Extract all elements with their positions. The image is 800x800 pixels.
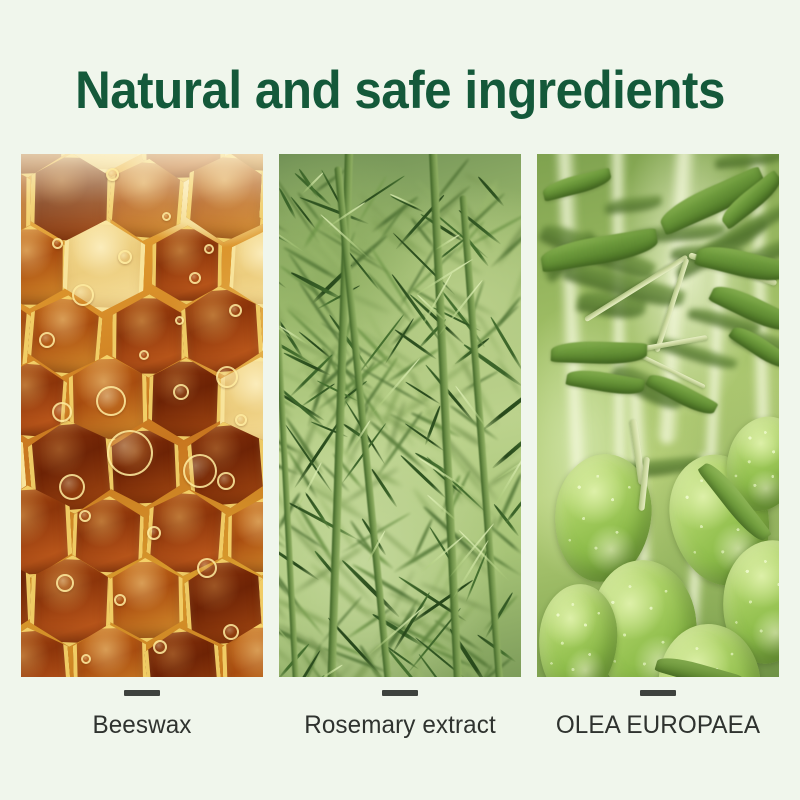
caption-rosemary: Rosemary extract <box>279 690 521 739</box>
caption-dash-icon <box>640 690 676 696</box>
page-title: Natural and safe ingredients <box>28 62 772 120</box>
caption-label-olea-europaea: OLEA EUROPAEA <box>541 711 776 739</box>
rosemary-image <box>279 154 521 677</box>
caption-label-beeswax: Beeswax <box>25 711 260 739</box>
ingredient-image-row <box>21 154 779 677</box>
caption-beeswax: Beeswax <box>21 690 263 739</box>
caption-dash-icon <box>124 690 160 696</box>
ingredient-caption-row: Beeswax Rosemary extract OLEA EUROPAEA <box>21 690 779 739</box>
honeycomb-image <box>21 154 263 677</box>
olive-branch-image <box>537 154 779 677</box>
ingredient-image-beeswax <box>21 154 263 677</box>
caption-olea-europaea: OLEA EUROPAEA <box>537 690 779 739</box>
caption-dash-icon <box>382 690 418 696</box>
ingredient-image-rosemary <box>279 154 521 677</box>
ingredient-image-olea-europaea <box>537 154 779 677</box>
caption-label-rosemary: Rosemary extract <box>283 711 518 739</box>
